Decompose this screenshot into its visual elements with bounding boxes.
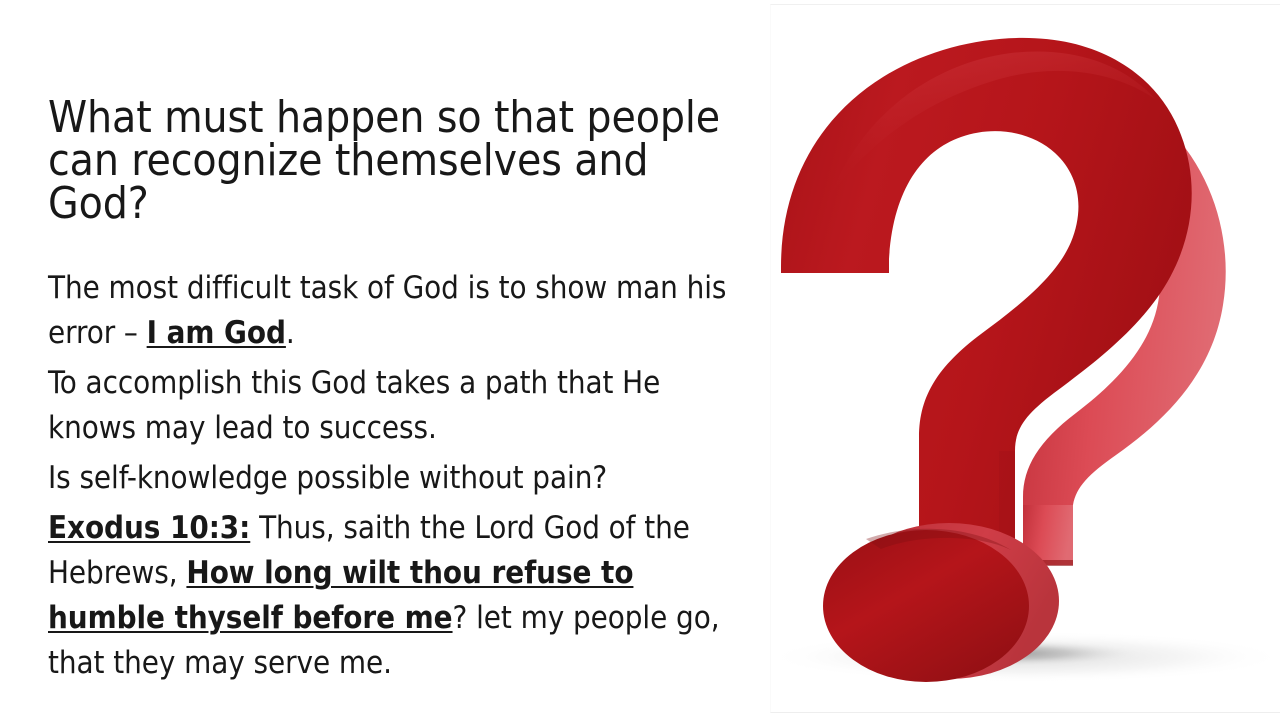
paragraph-2: To accomplish this God takes a path that…: [48, 361, 748, 451]
illustration-panel: [770, 4, 1280, 713]
paragraph-4-scripture: Exodus 10:3: Thus, saith the Lord God of…: [48, 506, 748, 686]
question-mark-front-face: [781, 38, 1192, 565]
question-mark-3d-icon: [771, 5, 1280, 712]
paragraph-2-part-1: To accomplish this God takes a path that…: [48, 365, 660, 446]
paragraph-1: The most difficult task of God is to sho…: [48, 266, 748, 356]
text-column: What must happen so that people can reco…: [48, 96, 748, 691]
paragraph-3: Is self-knowledge possible without pain?: [48, 456, 748, 501]
body-text-block: The most difficult task of God is to sho…: [48, 266, 748, 686]
paragraph-1-part-3: .: [286, 315, 295, 351]
paragraph-3-part-1: Is self-knowledge possible without pain?: [48, 460, 607, 496]
slide: What must happen so that people can reco…: [0, 0, 1280, 720]
question-mark-dot-front: [823, 530, 1029, 682]
paragraph-1-emphasis-i-am-god: I am God: [147, 315, 286, 351]
scripture-reference-exodus: Exodus 10:3:: [48, 510, 250, 546]
slide-title: What must happen so that people can reco…: [48, 96, 748, 225]
